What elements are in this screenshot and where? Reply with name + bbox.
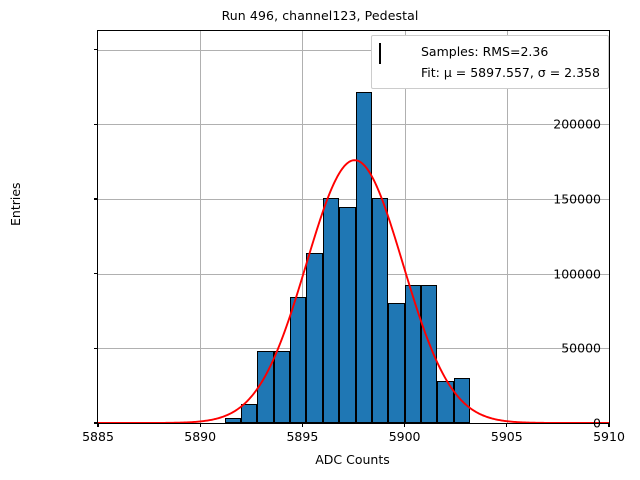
y-tick-mark — [94, 124, 98, 125]
x-tick-label: 5885 — [82, 429, 114, 444]
y-tick-label: 50000 — [511, 341, 601, 356]
legend-key-bar-patch — [379, 44, 412, 59]
x-tick-label: 5895 — [286, 429, 318, 444]
legend-label-fit: Fit: μ = 5897.557, σ = 2.358 — [421, 65, 600, 80]
y-tick-mark — [94, 198, 98, 199]
y-tick-mark — [94, 49, 98, 50]
x-tick-mark — [302, 423, 303, 427]
y-axis-label: Entries — [8, 182, 23, 226]
y-tick-mark — [94, 348, 98, 349]
x-tick-mark — [404, 423, 405, 427]
x-axis-label: ADC Counts — [97, 452, 608, 467]
legend-entry-fit: Fit: μ = 5897.557, σ = 2.358 — [379, 62, 600, 83]
figure-canvas: Run 496, channel123, Pedestal Entries AD… — [0, 0, 640, 480]
y-tick-mark — [94, 273, 98, 274]
plot-inner — [98, 31, 609, 423]
x-tick-mark — [506, 423, 507, 427]
y-tick-label: 0 — [511, 416, 601, 431]
x-tick-label: 5890 — [184, 429, 216, 444]
legend-entry-samples: Samples: RMS=2.36 — [379, 41, 600, 62]
legend-key-line — [379, 65, 412, 80]
chart-title: Run 496, channel123, Pedestal — [0, 8, 640, 23]
x-tick-mark — [200, 423, 201, 427]
x-tick-label: 5910 — [593, 429, 625, 444]
y-tick-label: 100000 — [511, 266, 601, 281]
x-tick-mark — [608, 423, 609, 427]
y-tick-label: 200000 — [511, 117, 601, 132]
legend-label-samples: Samples: RMS=2.36 — [421, 44, 548, 59]
fit-curve-svg — [98, 31, 609, 423]
plot-area: 050000100000150000200000250000 588558905… — [97, 30, 610, 424]
x-tick-label: 5900 — [389, 429, 421, 444]
y-tick-label: 150000 — [511, 192, 601, 207]
x-tick-label: 5905 — [491, 429, 523, 444]
chart-legend: Samples: RMS=2.36 Fit: μ = 5897.557, σ =… — [371, 35, 609, 89]
x-tick-mark — [97, 423, 98, 427]
